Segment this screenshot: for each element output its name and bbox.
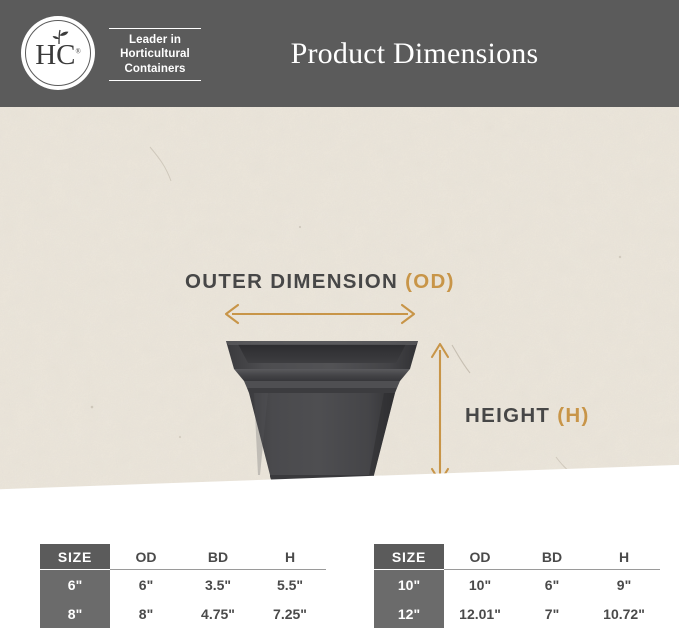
table-row: 12" 12.01" 7" 10.72" [374,599,660,628]
height-dimension-text: HEIGHT [465,404,550,427]
tagline-rule-top [109,28,201,29]
height-dimension-label: HEIGHT (H) [465,404,590,428]
size-tables-section: SIZE OD BD H 6" 6" 3.5" 5.5" 8" 8" [0,510,679,636]
logo-badge-circle: HC® [21,16,95,90]
cell-od: 10" [444,570,516,599]
cell-od: 8" [110,599,182,628]
cell-bd: 3.5" [182,570,254,599]
cell-od: 12.01" [444,599,516,628]
column-header-bd: BD [182,544,254,569]
table-header-row: SIZE OD BD H [40,544,326,569]
outer-dimension-abbrev: (OD) [405,270,455,293]
product-dimensions-infographic: HC® Leader in Horticultural Containers P… [0,0,679,636]
cell-size: 10" [374,570,444,599]
cell-bd: 4.75" [182,599,254,628]
leaf-sprout-icon [48,29,70,45]
tagline-line-2: Horticultural [109,47,201,62]
size-table-large: SIZE OD BD H 10" 10" 6" 9" 12" 12. [374,544,660,628]
cell-h: 9" [588,570,660,599]
outer-dimension-arrow [222,301,418,327]
height-dimension-abbrev: (H) [557,404,589,427]
cell-od: 6" [110,570,182,599]
column-header-h: H [588,544,660,569]
table-row: 10" 10" 6" 9" [374,570,660,599]
column-header-h: H [254,544,326,569]
cell-bd: 7" [516,599,588,628]
cell-size: 6" [40,570,110,599]
header-bar: HC® Leader in Horticultural Containers P… [0,0,679,107]
outer-dimension-text: OUTER DIMENSION [185,270,398,293]
cell-h: 7.25" [254,599,326,628]
column-header-size: SIZE [40,544,110,569]
tagline-rule-bottom [109,80,201,81]
cell-h: 10.72" [588,599,660,628]
tagline-line-3: Containers [109,62,201,77]
outer-dimension-label: OUTER DIMENSION (OD) [185,270,455,294]
planter-pot-illustration [224,335,420,487]
table-row: 6" 6" 3.5" 5.5" [40,570,326,599]
brand-logo: HC® Leader in Horticultural Containers [21,16,201,90]
cell-size: 12" [374,599,444,628]
column-header-od: OD [444,544,516,569]
table-row: 8" 8" 4.75" 7.25" [40,599,326,628]
column-header-od: OD [110,544,182,569]
column-header-size: SIZE [374,544,444,569]
table-header-row: SIZE OD BD H [374,544,660,569]
registered-mark: ® [75,47,80,55]
tagline-line-1: Leader in [109,33,201,48]
size-table-small-grid: SIZE OD BD H 6" 6" 3.5" 5.5" 8" 8" [40,544,326,628]
height-dimension-arrow [428,340,452,486]
brand-tagline: Leader in Horticultural Containers [109,25,201,82]
size-table-small: SIZE OD BD H 6" 6" 3.5" 5.5" 8" 8" [40,544,326,628]
cell-size: 8" [40,599,110,628]
cell-bd: 6" [516,570,588,599]
cell-h: 5.5" [254,570,326,599]
column-header-bd: BD [516,544,588,569]
diagram-panel: OUTER DIMENSION (OD) [0,107,679,510]
size-table-large-grid: SIZE OD BD H 10" 10" 6" 9" 12" 12. [374,544,660,628]
